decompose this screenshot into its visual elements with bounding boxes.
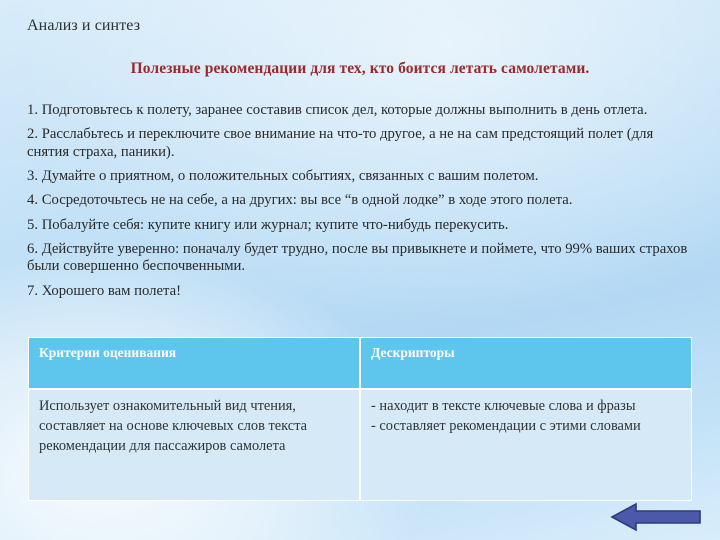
slide-canvas: Анализ и синтез Полезные рекомендации дл… (0, 0, 720, 540)
table-row: Использует ознакомительный вид чтения, с… (28, 389, 692, 501)
list-item: 4. Сосредоточьтесь не на себе, а на друг… (27, 192, 697, 209)
list-item: 7. Хорошего вам полета! (27, 283, 697, 300)
table-cell-criteria: Использует ознакомительный вид чтения, с… (28, 389, 360, 501)
table-header-row: Критерии оценивания Дескрипторы (28, 337, 692, 389)
rubric-table: Критерии оценивания Дескрипторы Использу… (28, 337, 692, 501)
recommendations-list: 1. Подготовьтесь к полету, заранее соста… (27, 102, 697, 300)
list-item: 6. Действуйте уверенно: поначалу будет т… (27, 241, 697, 276)
table-header-criteria: Критерии оценивания (28, 337, 360, 389)
list-item: 5. Побалуйте себя: купите книгу или журн… (27, 217, 697, 234)
back-arrow-button[interactable] (610, 502, 702, 532)
table-header-descriptors: Дескрипторы (360, 337, 692, 389)
list-item: 1. Подготовьтесь к полету, заранее соста… (27, 102, 697, 119)
table-cell-descriptors: - находит в тексте ключевые слова и фраз… (360, 389, 692, 501)
slide-title: Анализ и синтез (27, 16, 140, 35)
list-item: 3. Думайте о приятном, о положительных с… (27, 168, 697, 185)
arrow-left-icon (610, 502, 702, 532)
list-item: 2. Расслабьтесь и переключите свое внима… (27, 126, 697, 161)
slide-heading: Полезные рекомендации для тех, кто боитс… (0, 60, 720, 78)
